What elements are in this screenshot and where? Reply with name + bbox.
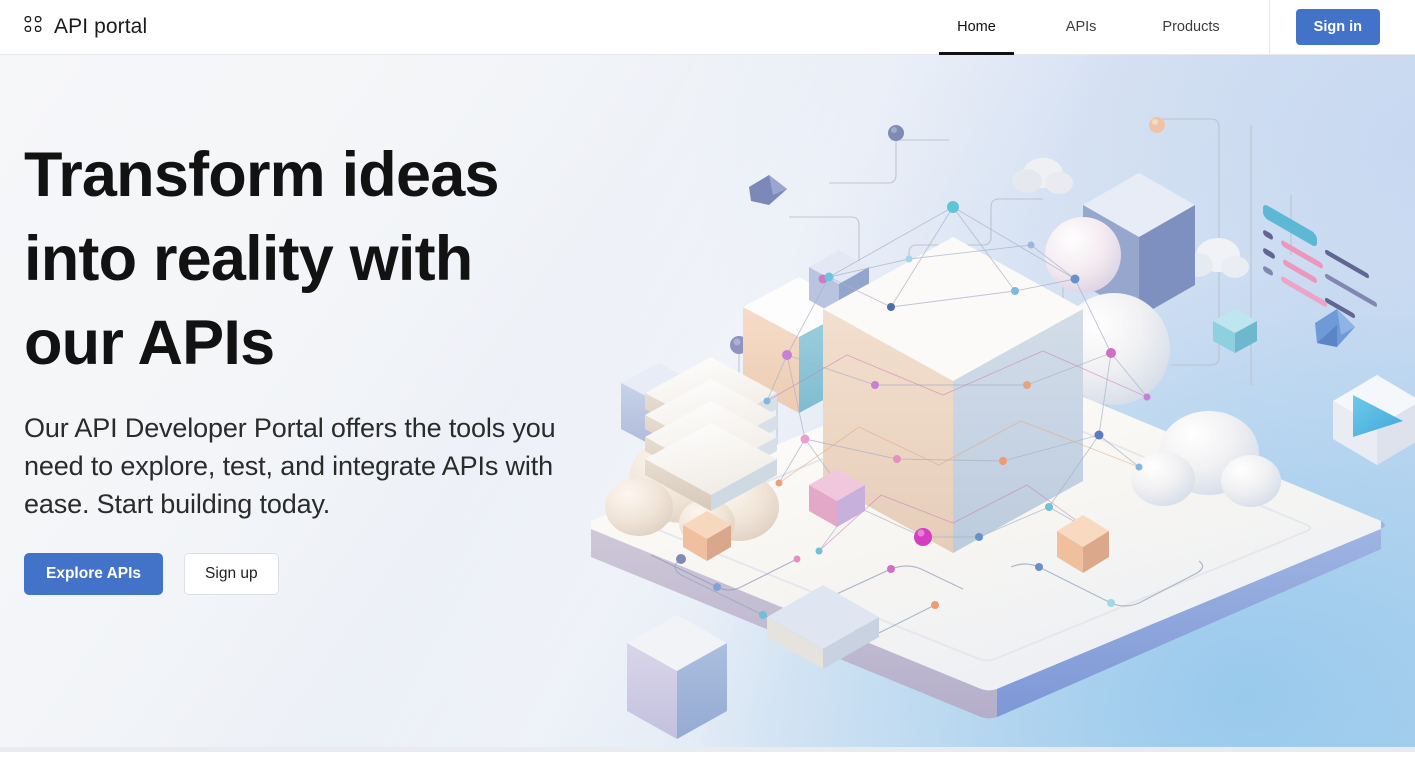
brand-name: API portal — [54, 15, 147, 39]
page-bottom-edge — [0, 747, 1415, 752]
page-title: Transform ideas into reality with our AP… — [24, 133, 584, 385]
nav-item-products[interactable]: Products — [1144, 0, 1237, 55]
main-navigation: Home APIs Products Sign in — [917, 0, 1415, 55]
nav-item-home[interactable]: Home — [939, 0, 1014, 55]
hero-illustration-isometric-api-network — [591, 55, 1415, 752]
brand-logo[interactable]: API portal — [22, 15, 147, 39]
hero-subtitle: Our API Developer Portal offers the tool… — [24, 409, 569, 523]
hero-cta-group: Explore APIs Sign up — [24, 553, 584, 595]
hero-copy: Transform ideas into reality with our AP… — [24, 133, 584, 595]
hero-section: Transform ideas into reality with our AP… — [0, 55, 1415, 752]
four-petal-grid-icon — [22, 16, 44, 38]
api-portal-landing-page: API portal Home APIs Products Sign in — [0, 0, 1415, 757]
nav-item-apis-label: APIs — [1066, 19, 1097, 35]
sign-up-button[interactable]: Sign up — [184, 553, 279, 595]
signin-container: Sign in — [1270, 0, 1415, 55]
nav-item-products-label: Products — [1162, 19, 1219, 35]
site-header: API portal Home APIs Products Sign in — [0, 0, 1415, 55]
nav-item-apis[interactable]: APIs — [1048, 0, 1115, 55]
sign-in-button[interactable]: Sign in — [1296, 9, 1380, 45]
explore-apis-button[interactable]: Explore APIs — [24, 553, 163, 595]
nav-item-home-label: Home — [957, 19, 996, 35]
